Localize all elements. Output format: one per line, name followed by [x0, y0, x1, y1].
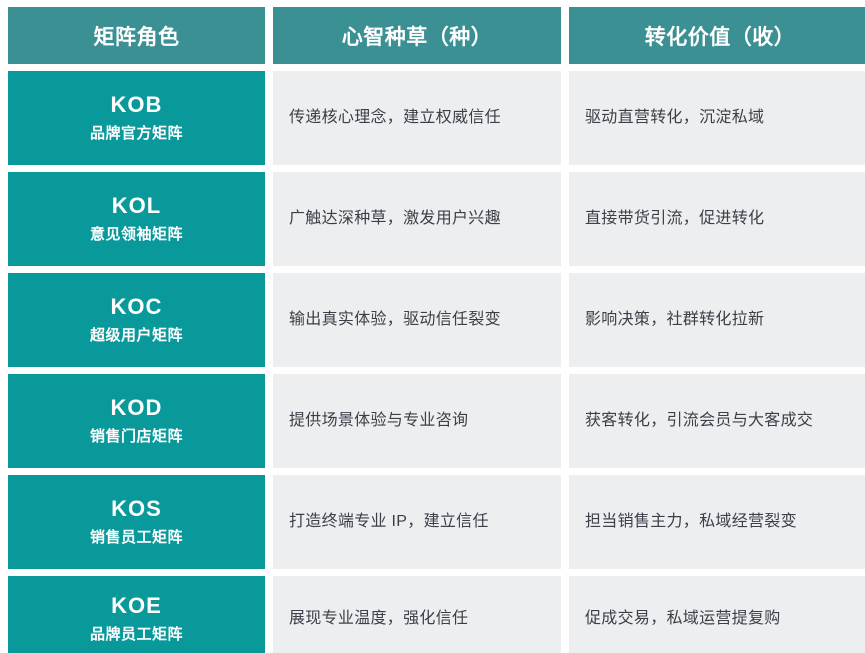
role-name: 销售门店矩阵: [90, 429, 183, 446]
matrix-role-table: 矩阵角色 心智种草（种） 转化价值（收） KOB 品牌官方矩阵 传递核心理念，建…: [0, 0, 865, 653]
table-row-role-cell: KOE 品牌员工矩阵: [8, 576, 265, 653]
role-code: KOB: [111, 93, 163, 117]
table-row-planting-cell: 提供场景体验与专业咨询: [273, 374, 561, 468]
table-row-role-cell: KOS 销售员工矩阵: [8, 475, 265, 569]
table-row-conversion-cell: 获客转化，引流会员与大客成交: [569, 374, 865, 468]
table-row-planting-cell: 传递核心理念，建立权威信任: [273, 71, 561, 165]
table-row-role-cell: KOC 超级用户矩阵: [8, 273, 265, 367]
table-row-planting-cell: 输出真实体验，驱动信任裂变: [273, 273, 561, 367]
column-header-planting: 心智种草（种）: [273, 7, 561, 64]
table-row-role-cell: KOB 品牌官方矩阵: [8, 71, 265, 165]
table-row-role-cell: KOD 销售门店矩阵: [8, 374, 265, 468]
role-code: KOD: [111, 396, 163, 420]
table-row-conversion-cell: 驱动直营转化，沉淀私域: [569, 71, 865, 165]
role-code: KOS: [111, 497, 162, 521]
role-code: KOC: [111, 295, 163, 319]
role-code: KOE: [111, 594, 162, 618]
role-code: KOL: [112, 194, 161, 218]
table-grid: 矩阵角色 心智种草（种） 转化价值（收） KOB 品牌官方矩阵 传递核心理念，建…: [8, 7, 865, 653]
role-name: 品牌员工矩阵: [90, 627, 183, 644]
table-row-conversion-cell: 促成交易，私域运营提复购: [569, 576, 865, 653]
column-header-role: 矩阵角色: [8, 7, 265, 64]
role-name: 品牌官方矩阵: [90, 126, 183, 143]
role-name: 超级用户矩阵: [90, 328, 183, 345]
table-row-planting-cell: 展现专业温度，强化信任: [273, 576, 561, 653]
table-row-conversion-cell: 担当销售主力，私域经营裂变: [569, 475, 865, 569]
table-row-planting-cell: 打造终端专业 IP，建立信任: [273, 475, 561, 569]
table-row-conversion-cell: 影响决策，社群转化拉新: [569, 273, 865, 367]
table-row-conversion-cell: 直接带货引流，促进转化: [569, 172, 865, 266]
column-header-conversion: 转化价值（收）: [569, 7, 865, 64]
table-row-planting-cell: 广触达深种草，激发用户兴趣: [273, 172, 561, 266]
role-name: 意见领袖矩阵: [90, 227, 183, 244]
role-name: 销售员工矩阵: [90, 530, 183, 547]
table-row-role-cell: KOL 意见领袖矩阵: [8, 172, 265, 266]
